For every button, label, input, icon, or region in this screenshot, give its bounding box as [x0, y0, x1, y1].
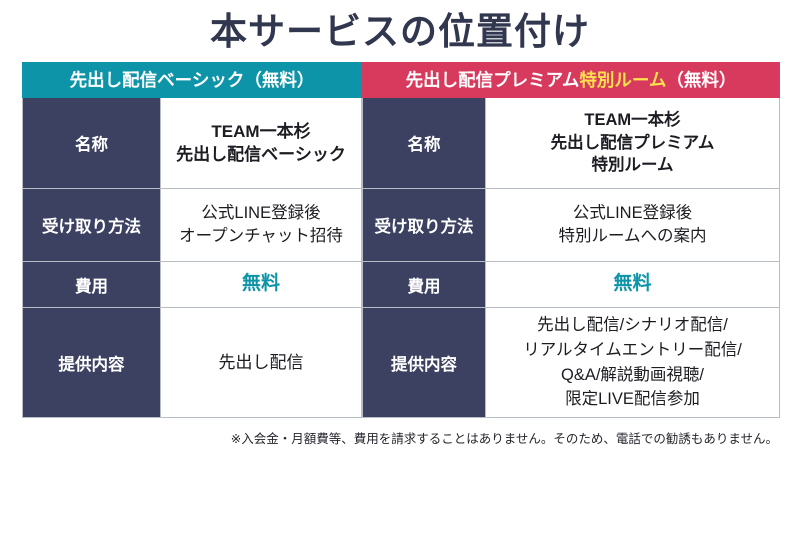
plan-panel-premium: 先出し配信プレミアム特別ルーム（無料） 名称 TEAM一本杉 先出し配信プレミア… [362, 62, 780, 418]
row-value-offer-basic: 先出し配信 [160, 308, 361, 417]
row-value-cost-basic: 無料 [160, 262, 361, 307]
table-row: 名称 TEAM一本杉 先出し配信ベーシック [23, 98, 361, 188]
page-title: 本サービスの位置付け [0, 8, 800, 56]
row-label-name-premium: 名称 [363, 98, 485, 188]
comparison-tables: 先出し配信ベーシック（無料） 名称 TEAM一本杉 先出し配信ベーシック 受け取… [22, 62, 780, 418]
plan-table-basic: 名称 TEAM一本杉 先出し配信ベーシック 受け取り方法 公式LINE登録後 オ… [22, 98, 362, 418]
row-label-offer-premium: 提供内容 [363, 308, 485, 417]
row-value-receive-basic: 公式LINE登録後 オープンチャット招待 [160, 189, 361, 261]
row-label-receive-basic: 受け取り方法 [23, 189, 160, 261]
table-row: 費用 無料 [363, 261, 779, 307]
row-label-receive-premium: 受け取り方法 [363, 189, 485, 261]
row-value-name-premium: TEAM一本杉 先出し配信プレミアム 特別ルーム [485, 98, 779, 188]
table-row: 提供内容 先出し配信/シナリオ配信/ リアルタイムエントリー配信/ Q&A/解説… [363, 307, 779, 417]
plan-header-premium-part1: 先出し配信プレミアム [406, 70, 580, 90]
plan-header-premium-part2: （無料） [666, 70, 736, 90]
footnote-text: ※入会金・月額費等、費用を請求することはありません。そのため、電話での勧誘もあり… [231, 428, 778, 447]
row-value-name-basic: TEAM一本杉 先出し配信ベーシック [160, 98, 361, 188]
row-value-offer-premium: 先出し配信/シナリオ配信/ リアルタイムエントリー配信/ Q&A/解説動画視聴/… [485, 308, 779, 417]
table-row: 名称 TEAM一本杉 先出し配信プレミアム 特別ルーム [363, 98, 779, 188]
table-row: 提供内容 先出し配信 [23, 307, 361, 417]
plan-header-premium-highlight: 特別ルーム [579, 70, 666, 90]
table-row: 受け取り方法 公式LINE登録後 特別ルームへの案内 [363, 188, 779, 261]
plan-header-premium: 先出し配信プレミアム特別ルーム（無料） [362, 62, 780, 98]
row-label-name-basic: 名称 [23, 98, 160, 188]
row-value-cost-premium: 無料 [485, 262, 779, 307]
row-label-cost-premium: 費用 [363, 262, 485, 307]
table-row: 受け取り方法 公式LINE登録後 オープンチャット招待 [23, 188, 361, 261]
table-row: 費用 無料 [23, 261, 361, 307]
page-root: 本サービスの位置付け 先出し配信ベーシック（無料） 名称 TEAM一本杉 先出し… [0, 0, 800, 548]
plan-header-basic: 先出し配信ベーシック（無料） [22, 62, 362, 98]
row-label-offer-basic: 提供内容 [23, 308, 160, 417]
row-label-cost-basic: 費用 [23, 262, 160, 307]
plan-table-premium: 名称 TEAM一本杉 先出し配信プレミアム 特別ルーム 受け取り方法 公式LIN… [362, 98, 780, 418]
row-value-receive-premium: 公式LINE登録後 特別ルームへの案内 [485, 189, 779, 261]
plan-panel-basic: 先出し配信ベーシック（無料） 名称 TEAM一本杉 先出し配信ベーシック 受け取… [22, 62, 362, 418]
